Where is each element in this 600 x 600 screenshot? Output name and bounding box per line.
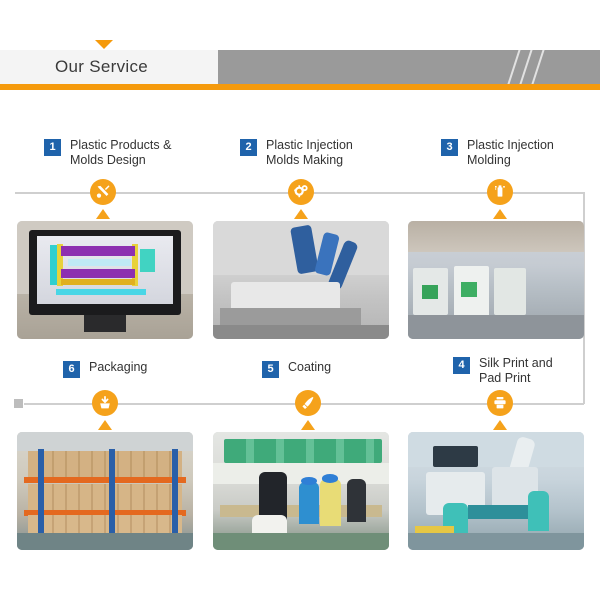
header-orange-underline (0, 84, 600, 90)
header-banner: Our Service (0, 50, 600, 90)
step-title-5: Coating (288, 360, 331, 375)
step-node-3[interactable] (487, 179, 513, 205)
step-node-2[interactable] (288, 179, 314, 205)
step-title-4: Silk Print and Pad Print (479, 356, 553, 386)
step-arrow-2 (294, 209, 308, 219)
step-arrow-4 (493, 420, 507, 430)
wrench-screwdriver-icon (90, 179, 116, 205)
step-badge-4: 4 (453, 357, 470, 374)
step-node-1[interactable] (90, 179, 116, 205)
step-photo-5[interactable] (213, 432, 389, 550)
step-arrow-1 (96, 209, 110, 219)
header-triangle-pointer (95, 40, 113, 49)
step-photo-3[interactable] (408, 221, 584, 339)
step-arrow-3 (493, 209, 507, 219)
step-node-4[interactable] (487, 390, 513, 416)
step-badge-6: 6 (63, 361, 80, 378)
step-label-3: 3 Plastic Injection Molding (441, 138, 591, 168)
header-title-box: Our Service (0, 50, 218, 84)
step-label-4: 4 Silk Print and Pad Print (453, 356, 593, 386)
step-badge-2: 2 (240, 139, 257, 156)
service-process-infographic: Our Service 1 Plastic Products & Molds D… (0, 0, 600, 600)
step-label-5: 5 Coating (262, 360, 422, 378)
gears-icon (288, 179, 314, 205)
step-node-6[interactable] (92, 390, 118, 416)
step-label-1: 1 Plastic Products & Molds Design (44, 138, 214, 168)
step-photo-2[interactable] (213, 221, 389, 339)
paint-brush-icon (295, 390, 321, 416)
step-photo-4[interactable] (408, 432, 584, 550)
step-node-5[interactable] (295, 390, 321, 416)
step-label-6: 6 Packaging (63, 360, 223, 378)
step-badge-1: 1 (44, 139, 61, 156)
flow-line-end-cap (14, 399, 23, 408)
page-title: Our Service (0, 57, 148, 77)
printer-icon (487, 390, 513, 416)
step-photo-6[interactable] (17, 432, 193, 550)
step-badge-5: 5 (262, 361, 279, 378)
diagonal-stripes-decoration (505, 50, 565, 84)
step-label-2: 2 Plastic Injection Molds Making (240, 138, 410, 168)
package-box-icon (92, 390, 118, 416)
step-arrow-6 (98, 420, 112, 430)
step-title-6: Packaging (89, 360, 147, 375)
step-badge-3: 3 (441, 139, 458, 156)
step-arrow-5 (301, 420, 315, 430)
injection-machine-icon (487, 179, 513, 205)
step-title-1: Plastic Products & Molds Design (70, 138, 171, 168)
step-title-2: Plastic Injection Molds Making (266, 138, 353, 168)
step-title-3: Plastic Injection Molding (467, 138, 554, 168)
step-photo-1[interactable] (17, 221, 193, 339)
